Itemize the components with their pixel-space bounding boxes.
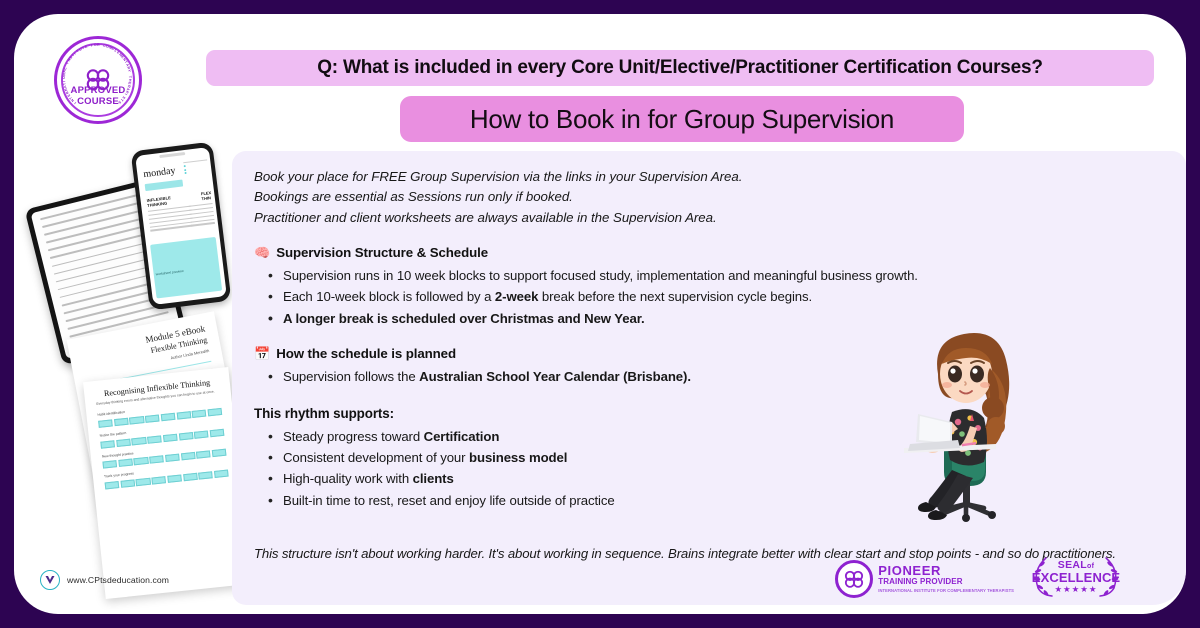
subtitle-banner: How to Book in for Group Supervision	[400, 96, 964, 142]
poster-card: INTERNATIONALINSTITUTEFORCOMPLEMENTARYTH…	[14, 14, 1186, 614]
seal-word-of: of	[1087, 563, 1094, 570]
question-text: Q: What is included in every Core Unit/E…	[317, 57, 1043, 79]
approved-course-label: APPROVED COURSE	[54, 86, 142, 107]
list-item-text: Supervision follows the	[283, 369, 419, 384]
intro-line: Bookings are essential as Sessions run o…	[254, 187, 1166, 207]
list-item-text: Built-in time to rest, reset and enjoy l…	[283, 493, 615, 508]
intro-line: Book your place for FREE Group Supervisi…	[254, 167, 1166, 187]
list-item-text: break before the next supervision cycle …	[538, 289, 812, 304]
footer-url: www.CPtsdeducation.com	[67, 575, 169, 585]
phone-column-2-heading: FLEXTHIN	[201, 190, 212, 202]
subtitle-text: How to Book in for Group Supervision	[470, 104, 894, 135]
pioneer-training-provider-badge: PIONEER TRAINING PROVIDER INTERNATIONAL …	[835, 560, 1014, 598]
seal-line-2: EXCELLENCE	[1024, 571, 1128, 584]
calendar-icon: 📅	[254, 347, 270, 360]
phone-list-column-2	[189, 203, 216, 229]
section-heading-text: Supervision Structure & Schedule	[276, 245, 488, 260]
list-item-text: Supervision runs in 10 week blocks to su…	[283, 268, 918, 283]
pioneer-line-1: PIONEER	[878, 564, 1014, 577]
list-item-emphasis: business model	[469, 450, 567, 465]
trust-badges: PIONEER TRAINING PROVIDER INTERNATIONAL …	[835, 554, 1128, 598]
section-heading-text: How the schedule is planned	[276, 346, 456, 361]
seal-stars: ★★★★★	[1024, 585, 1128, 594]
list-item-text: High-quality work with	[283, 471, 413, 486]
phone-brand-label: monday	[143, 165, 176, 180]
seal-of-excellence-badge: SEALof EXCELLENCE ★★★★★	[1024, 554, 1128, 598]
pioneer-line-3: INTERNATIONAL INSTITUTE FOR COMPLEMENTAR…	[878, 588, 1014, 593]
cptsd-education-logo	[40, 570, 60, 590]
pioneer-line-2: TRAINING PROVIDER	[878, 578, 1014, 586]
section-heading-structure: 🧠 Supervision Structure & Schedule	[254, 245, 1166, 260]
intro-line: Practitioner and client worksheets are a…	[254, 208, 1166, 228]
list-item-emphasis: Australian School Year Calendar (Brisban…	[419, 369, 691, 384]
phone-list-column-1	[148, 206, 195, 235]
brain-icon: 🧠	[254, 246, 270, 259]
list-item-emphasis: clients	[413, 471, 454, 486]
phone-column-1-heading: INFLEXIBLETHINKING	[146, 195, 171, 208]
list-item-text: Consistent development of your	[283, 450, 469, 465]
content-panel: Book your place for FREE Group Supervisi…	[232, 151, 1186, 605]
iict-knot-icon	[835, 560, 873, 598]
product-mockup-collage: monday INFLEXIBLETHINKING FLEXTHIN	[22, 134, 252, 604]
phone-side-column	[183, 159, 209, 176]
footer: www.CPtsdeducation.com	[40, 570, 169, 590]
phone-screen: monday INFLEXIBLETHINKING FLEXTHIN	[135, 147, 227, 305]
list-item-emphasis: 2-week	[495, 289, 538, 304]
question-banner: Q: What is included in every Core Unit/E…	[206, 50, 1154, 86]
worksheet-page-mockup: Recognising Inflexible Thinking Everyday…	[83, 367, 251, 599]
list-item: Each 10-week block is followed by a 2-we…	[254, 286, 1166, 307]
phone-notch	[159, 152, 185, 158]
approved-line-2: COURSE	[54, 97, 142, 108]
approved-course-badge: INTERNATIONALINSTITUTEFORCOMPLEMENTARYTH…	[54, 36, 142, 124]
list-item-text: A longer break is scheduled over Christm…	[283, 311, 645, 326]
woman-at-laptop-illustration	[900, 322, 1032, 527]
phone-teal-panel	[150, 237, 222, 299]
bullet-list-structure: Supervision runs in 10 week blocks to su…	[254, 265, 1166, 329]
list-item-text: Steady progress toward	[283, 429, 424, 444]
list-item-text: Each 10-week block is followed by a	[283, 289, 495, 304]
poster-frame: INTERNATIONALINSTITUTEFORCOMPLEMENTARYTH…	[0, 0, 1200, 628]
list-item: Supervision runs in 10 week blocks to su…	[254, 265, 1166, 286]
phone-search-bar	[145, 179, 184, 191]
list-item-emphasis: Certification	[424, 429, 500, 444]
